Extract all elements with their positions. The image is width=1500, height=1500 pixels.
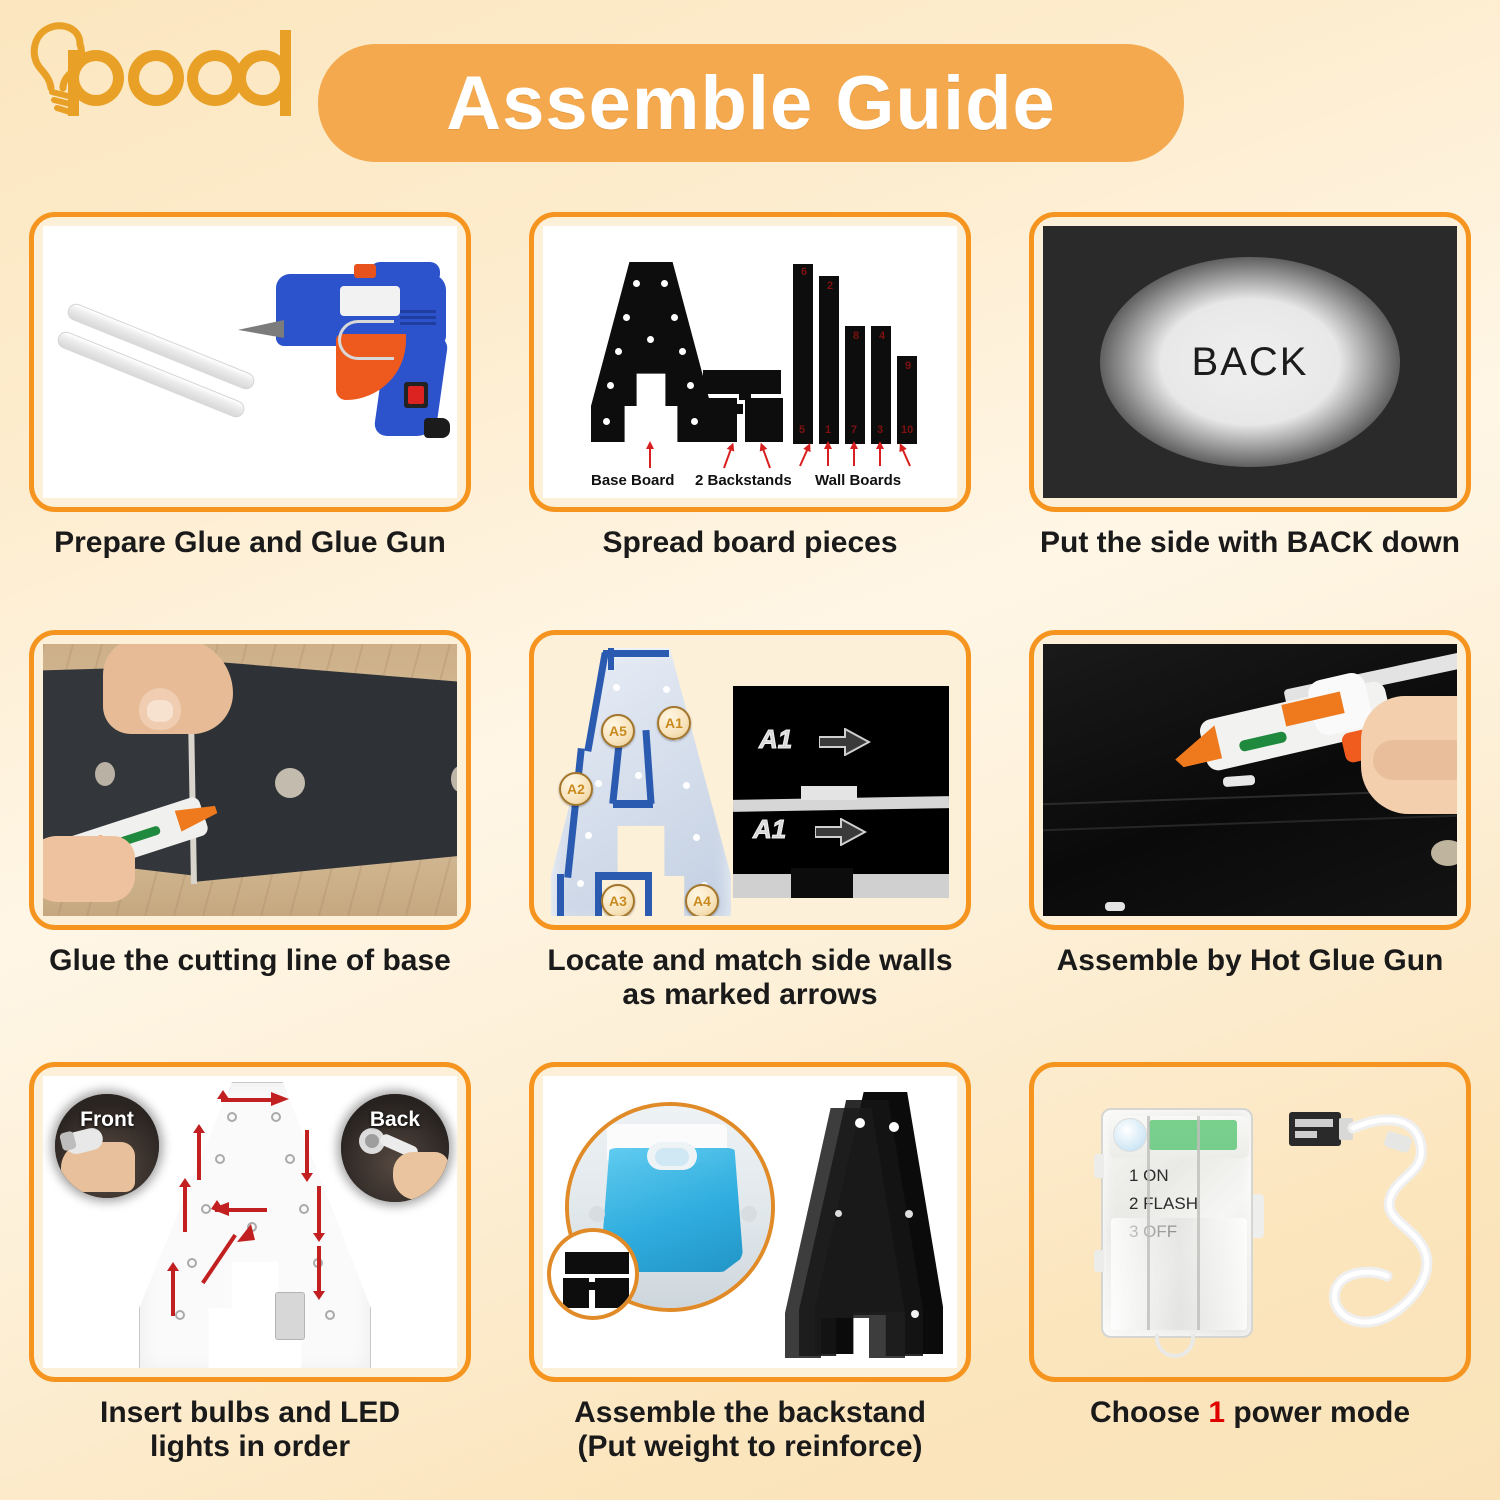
brand-logo — [18, 14, 306, 124]
step-8-caption: Assemble the backstand (Put weight to re… — [515, 1396, 985, 1463]
step-8-caption-line2: (Put weight to reinforce) — [515, 1430, 985, 1464]
hot-glue-gun-assembly-photo — [1043, 644, 1457, 916]
label-base-board: Base Board — [591, 472, 674, 489]
letter-a-markers-diagram: A5 A1 A2 A3 A4 A1 A1 — [543, 644, 957, 916]
step-8-caption-line1: Assemble the backstand — [515, 1396, 985, 1430]
step-card-6: Assemble by Hot Glue Gun — [1000, 630, 1500, 1062]
arrow-backstand-right — [762, 449, 771, 468]
step-6-image-frame — [1029, 630, 1471, 930]
back-text: BACK — [1192, 340, 1309, 385]
letter-a-outline — [139, 1082, 371, 1368]
battery-box: 1 ON 2 FLASH 3 OFF — [1101, 1108, 1253, 1338]
marker-a2: A2 — [559, 772, 593, 806]
inset-tag-a1-bottom: A1 — [753, 814, 786, 845]
arrow-right-icon — [815, 818, 867, 846]
marker-a1: A1 — [657, 706, 691, 740]
step-card-5: A5 A1 A2 A3 A4 A1 A1 — [500, 630, 1000, 1062]
page-title-banner: Assemble Guide — [318, 44, 1184, 162]
arrow-wall-2 — [827, 448, 829, 466]
glue-gun — [218, 258, 457, 458]
step-7-image-frame: Front Back — [29, 1062, 471, 1382]
marker-a5: A5 — [601, 714, 635, 748]
arrow-wall-4 — [879, 448, 881, 466]
step-7-caption-line1: Insert bulbs and LED — [15, 1396, 485, 1430]
arrow-base-board — [649, 448, 651, 468]
back-side-photo: BACK — [1043, 226, 1457, 498]
step-2-image-frame: Base Board 2 Backstands — [529, 212, 971, 512]
dark-board: BACK — [1043, 226, 1457, 498]
backstand-assembly-photo — [543, 1076, 957, 1368]
step-5-caption-line2: as marked arrows — [515, 978, 985, 1012]
back-label: Back — [370, 1108, 420, 1132]
black-backstand-shape — [783, 1092, 957, 1354]
step-card-2: Base Board 2 Backstands — [500, 212, 1000, 630]
step-1-caption: Prepare Glue and Glue Gun — [15, 526, 485, 560]
step-4-image-frame — [29, 630, 471, 930]
insert-bulbs-diagram: Front Back — [43, 1076, 457, 1368]
step-7-caption-line2: lights in order — [15, 1430, 485, 1464]
side-wall-inset-photo: A1 A1 — [733, 686, 949, 898]
usb-cable-icon — [1283, 1106, 1457, 1346]
step-5-caption-line1: Locate and match side walls — [515, 944, 985, 978]
glue-gun-and-sticks-photo — [43, 226, 457, 498]
back-detail-bubble: Back — [341, 1094, 449, 1202]
step-5-image-frame: A5 A1 A2 A3 A4 A1 A1 — [529, 630, 971, 930]
inset-tag-a1-top: A1 — [759, 724, 792, 755]
step-8-image-frame — [529, 1062, 971, 1382]
step-card-4: Glue the cutting line of base — [0, 630, 500, 1062]
front-detail-bubble: Front — [55, 1094, 159, 1198]
arrow-wall-1 — [799, 449, 808, 466]
board-pieces-diagram: Base Board 2 Backstands — [543, 226, 957, 498]
marker-a4: A4 — [685, 884, 719, 916]
power-mode-2: 2 FLASH — [1129, 1194, 1198, 1214]
arrow-wall-5 — [902, 449, 911, 466]
arrow-backstand-left — [723, 449, 732, 468]
arrow-right-icon — [819, 728, 871, 756]
marker-a3: A3 — [601, 884, 635, 916]
step-1-image-frame — [29, 212, 471, 512]
step-7-caption: Insert bulbs and LED lights in order — [15, 1396, 485, 1463]
page-header: Assemble Guide — [0, 0, 1500, 200]
step-card-1: Prepare Glue and Glue Gun — [0, 212, 500, 630]
steps-grid: Prepare Glue and Glue Gun — [0, 212, 1500, 1482]
lightbulb-icon — [18, 16, 306, 122]
white-glue-gun — [49, 806, 229, 876]
step-2-caption: Spread board pieces — [515, 526, 985, 560]
step-4-caption: Glue the cutting line of base — [15, 944, 485, 978]
step-card-8: Assemble the backstand (Put weight to re… — [500, 1062, 1000, 1482]
arrow-wall-3 — [853, 448, 855, 466]
step-card-3: BACK Put the side with BACK down — [1000, 212, 1500, 630]
step-3-image-frame: BACK — [1029, 212, 1471, 512]
step-9-caption-post: power mode — [1225, 1396, 1410, 1429]
step-card-9: 1 ON 2 FLASH 3 OFF — [1000, 1062, 1500, 1482]
step-9-caption-highlight: 1 — [1208, 1396, 1225, 1429]
glue-cutting-line-photo — [43, 644, 457, 916]
label-wall-boards: Wall Boards — [815, 472, 901, 489]
base-board-shape — [591, 262, 711, 442]
step-9-image-frame: 1 ON 2 FLASH 3 OFF — [1029, 1062, 1471, 1382]
glow-spot: BACK — [1100, 257, 1400, 467]
usb-cable — [1283, 1106, 1457, 1346]
step-9-caption: Choose 1 power mode — [1015, 1396, 1485, 1430]
backstand-piece-inset — [547, 1228, 639, 1320]
step-9-caption-pre: Choose — [1090, 1396, 1208, 1429]
battery-box-and-usb-cable-photo: 1 ON 2 FLASH 3 OFF — [1043, 1076, 1457, 1368]
front-label: Front — [80, 1108, 134, 1132]
page-title: Assemble Guide — [446, 60, 1056, 147]
step-3-caption: Put the side with BACK down — [1015, 526, 1485, 560]
step-6-caption: Assemble by Hot Glue Gun — [1015, 944, 1485, 978]
step-5-caption: Locate and match side walls as marked ar… — [515, 944, 985, 1011]
step-card-7: Front Back Insert bulbs and LED lights i… — [0, 1062, 500, 1482]
label-backstands: 2 Backstands — [695, 472, 792, 489]
